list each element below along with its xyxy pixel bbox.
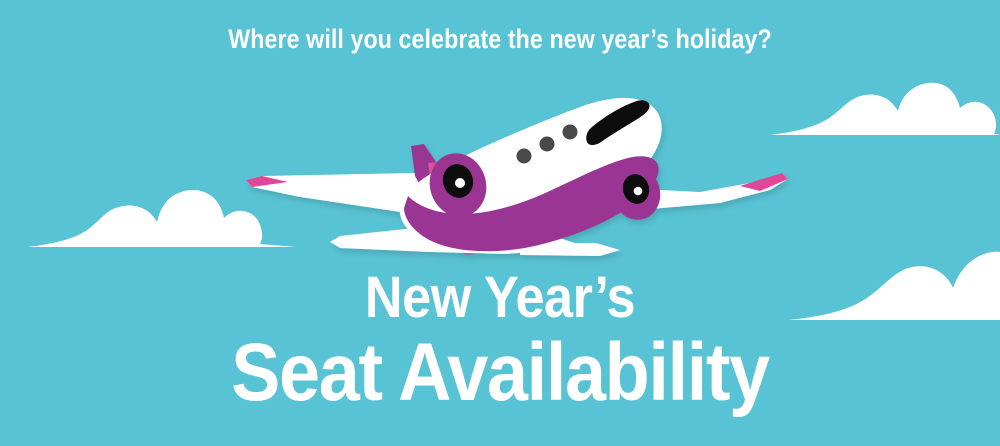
headline-block: New Year’s Seat Availability xyxy=(0,268,1000,416)
engine-rear-highlight xyxy=(634,187,643,196)
engine-front-highlight xyxy=(455,178,465,188)
passenger-window-2 xyxy=(540,137,555,152)
passenger-window-3 xyxy=(517,149,532,164)
airplane-group xyxy=(246,98,788,256)
headline-line-two: Seat Availability xyxy=(50,330,950,416)
tagline-text: Where will you celebrate the new year’s … xyxy=(70,24,930,55)
new-year-seat-availability-banner: Where will you celebrate the new year’s … xyxy=(0,0,1000,446)
headline-line-one: New Year’s xyxy=(50,268,950,328)
passenger-window-1 xyxy=(563,125,578,140)
